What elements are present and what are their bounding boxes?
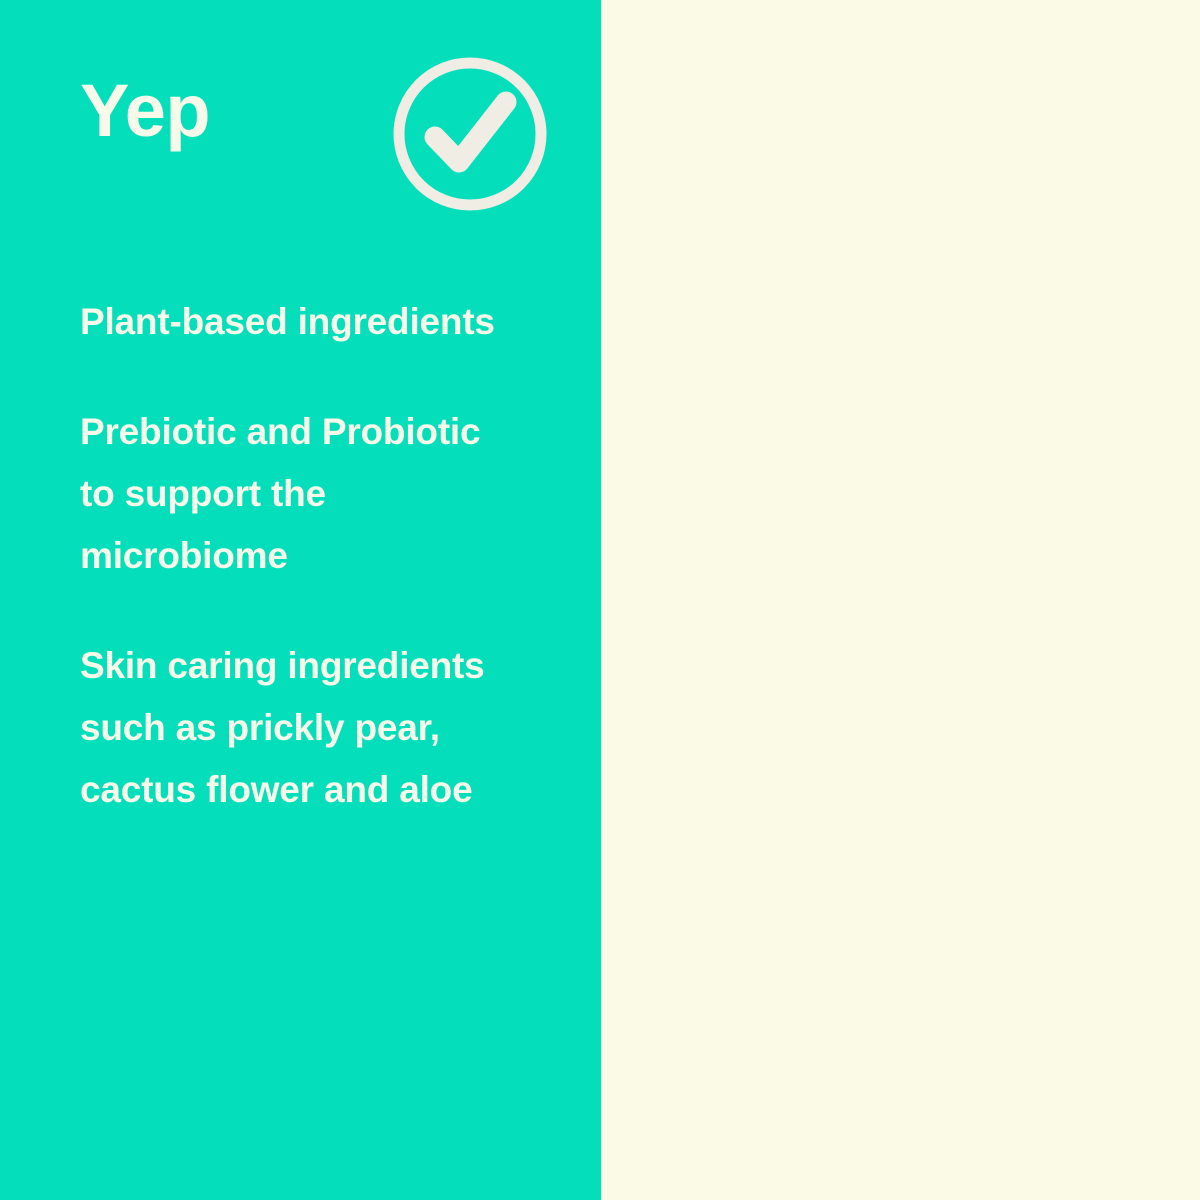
nup-panel: Nup NO Aluminum NO Phthalates, NO Parabe… xyxy=(601,0,1200,1200)
list-item: Skin caring ingredients such as prickly … xyxy=(80,635,500,821)
yep-panel: Yep Plant-based ingredients Prebiotic an… xyxy=(0,0,601,1200)
check-circle-icon xyxy=(392,56,548,212)
list-item: Prebiotic and Probiotic to support the m… xyxy=(80,401,500,587)
list-item: Plant-based ingredients xyxy=(80,291,500,353)
comparison-graphic: Yep Plant-based ingredients Prebiotic an… xyxy=(0,0,1200,1200)
yep-panel-title: Yep xyxy=(80,74,210,148)
yep-benefit-list: Plant-based ingredients Prebiotic and Pr… xyxy=(80,291,500,821)
